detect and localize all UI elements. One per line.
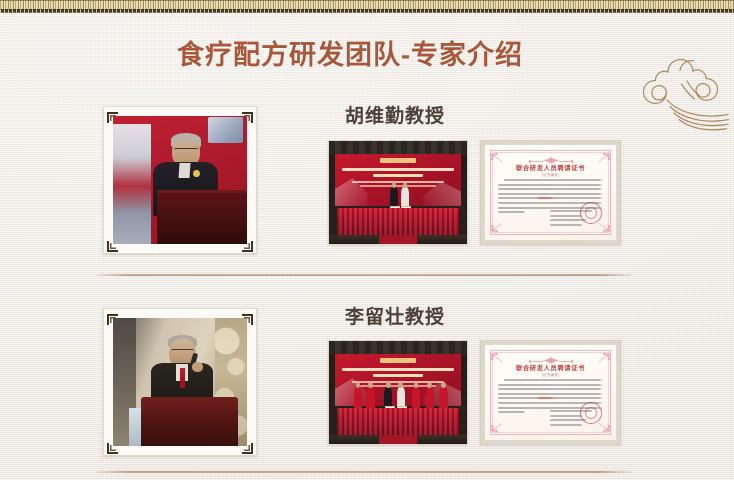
person-head <box>398 382 403 388</box>
certificate-top-ornament-icon <box>528 352 574 360</box>
text-line <box>498 197 603 199</box>
frame-corner-ornament-icon <box>242 239 253 250</box>
certificate-corner-flower-icon <box>598 150 611 161</box>
expert-row-2: 李留壮教授 <box>0 294 734 464</box>
slide-canvas: 食疗配方研发团队-专家介绍 <box>0 0 734 480</box>
row-divider-1 <box>96 274 631 276</box>
certificate-title: 联合研发人员聘请证书 <box>485 163 616 172</box>
person-head <box>392 182 397 188</box>
text-line <box>550 224 582 226</box>
row-divider-2 <box>96 471 631 473</box>
certificate-top-ornament-icon <box>528 152 574 160</box>
person-head <box>386 382 391 388</box>
text-line <box>498 397 603 399</box>
text-line <box>498 411 525 413</box>
screen-text-line <box>360 185 436 187</box>
screen-wave-right <box>423 180 461 206</box>
person-head <box>427 382 432 388</box>
text-line <box>550 424 582 426</box>
frame-corner-ornament-icon <box>242 110 253 121</box>
screen-text-line <box>352 181 443 183</box>
screen-text-line <box>342 368 454 371</box>
person-head <box>441 382 446 388</box>
certificate-subtitle: (证书编号) <box>485 172 616 177</box>
certificate-corner-flower-icon <box>490 350 503 361</box>
text-line <box>504 179 603 181</box>
ceremony-ceiling <box>329 341 467 355</box>
page-title: 食疗配方研发团队-专家介绍 <box>0 33 700 72</box>
expert-1-portrait-photo <box>113 116 247 244</box>
glasses-icon <box>171 349 194 354</box>
person-head <box>356 382 361 388</box>
certificate-red-seal-icon <box>580 402 602 424</box>
text-line <box>550 415 582 417</box>
text-line <box>550 219 586 221</box>
person-head <box>414 382 419 388</box>
text-line <box>550 419 586 421</box>
expert-1-portrait-frame[interactable] <box>103 106 257 254</box>
text-line <box>504 379 603 381</box>
person-hand <box>192 362 203 372</box>
certificate-subtitle: (证书编号) <box>485 372 616 377</box>
ceremony-person <box>412 387 420 410</box>
top-decorative-border <box>0 0 734 14</box>
text-line <box>498 388 603 390</box>
text-line <box>498 211 525 213</box>
frame-corner-ornament-icon <box>107 441 118 452</box>
frame-corner-ornament-icon <box>107 312 118 323</box>
certificate-paper: 联合研发人员聘请证书 (证书编号) <box>485 145 616 240</box>
ceremony-red-table <box>337 408 458 436</box>
expert-2-name: 李留壮教授 <box>280 302 510 329</box>
glasses-icon <box>174 148 198 153</box>
ceremony-person <box>426 387 434 410</box>
expert-1-ceremony-photo[interactable] <box>328 140 468 245</box>
expert-2-ceremony-photo[interactable] <box>328 340 468 445</box>
person-head <box>403 182 408 188</box>
podium <box>141 397 237 446</box>
person-head <box>368 382 373 388</box>
certificate-corner-flower-icon <box>490 424 503 435</box>
ceremony-person <box>354 387 362 410</box>
photo-screen-panel <box>208 117 243 143</box>
ceremony-led-screen <box>335 154 462 206</box>
ceremony-carpet <box>379 435 418 444</box>
screen-text-line <box>342 168 454 171</box>
frame-corner-ornament-icon <box>242 312 253 323</box>
expert-1-name: 胡维勤教授 <box>280 101 510 128</box>
ceremony-ceiling <box>329 141 467 155</box>
screen-header-banner <box>380 358 416 362</box>
ceremony-person <box>439 387 447 410</box>
ceremony-carpet <box>379 235 418 244</box>
photo-side-panel <box>113 124 151 244</box>
expert-1-certificate-photo[interactable]: 联合研发人员聘请证书 (证书编号) <box>480 140 621 245</box>
text-line <box>498 184 603 186</box>
certificate-title: 联合研发人员聘请证书 <box>485 363 616 372</box>
expert-2-portrait-frame[interactable] <box>103 308 257 456</box>
frame-corner-ornament-icon <box>242 441 253 452</box>
pattern-band-icon <box>0 0 734 9</box>
ceremony-person <box>366 387 374 410</box>
pattern-band-dark-strip <box>0 9 734 13</box>
frame-corner-ornament-icon <box>107 110 118 121</box>
person-shirt <box>178 163 190 178</box>
person-red-tie <box>180 368 185 388</box>
text-line <box>498 384 603 386</box>
expert-2-portrait-photo <box>113 318 247 446</box>
podium <box>157 193 247 244</box>
frame-corner-ornament-icon <box>107 239 118 250</box>
certificate-red-seal-icon <box>580 202 602 224</box>
expert-2-certificate-photo[interactable]: 联合研发人员聘请证书 (证书编号) <box>480 340 621 445</box>
screen-text-line <box>373 374 424 377</box>
certificate-corner-flower-icon <box>490 224 503 235</box>
text-line <box>550 215 582 217</box>
ceremony-red-table <box>337 208 458 236</box>
text-line <box>498 188 603 190</box>
certificate-corner-flower-icon <box>490 150 503 161</box>
text-line <box>498 193 603 195</box>
certificate-corner-flower-icon <box>598 350 611 361</box>
certificate-paper: 联合研发人员聘请证书 (证书编号) <box>485 345 616 440</box>
screen-header-banner <box>380 158 416 162</box>
text-line <box>498 393 603 395</box>
screen-text-line <box>373 174 424 177</box>
